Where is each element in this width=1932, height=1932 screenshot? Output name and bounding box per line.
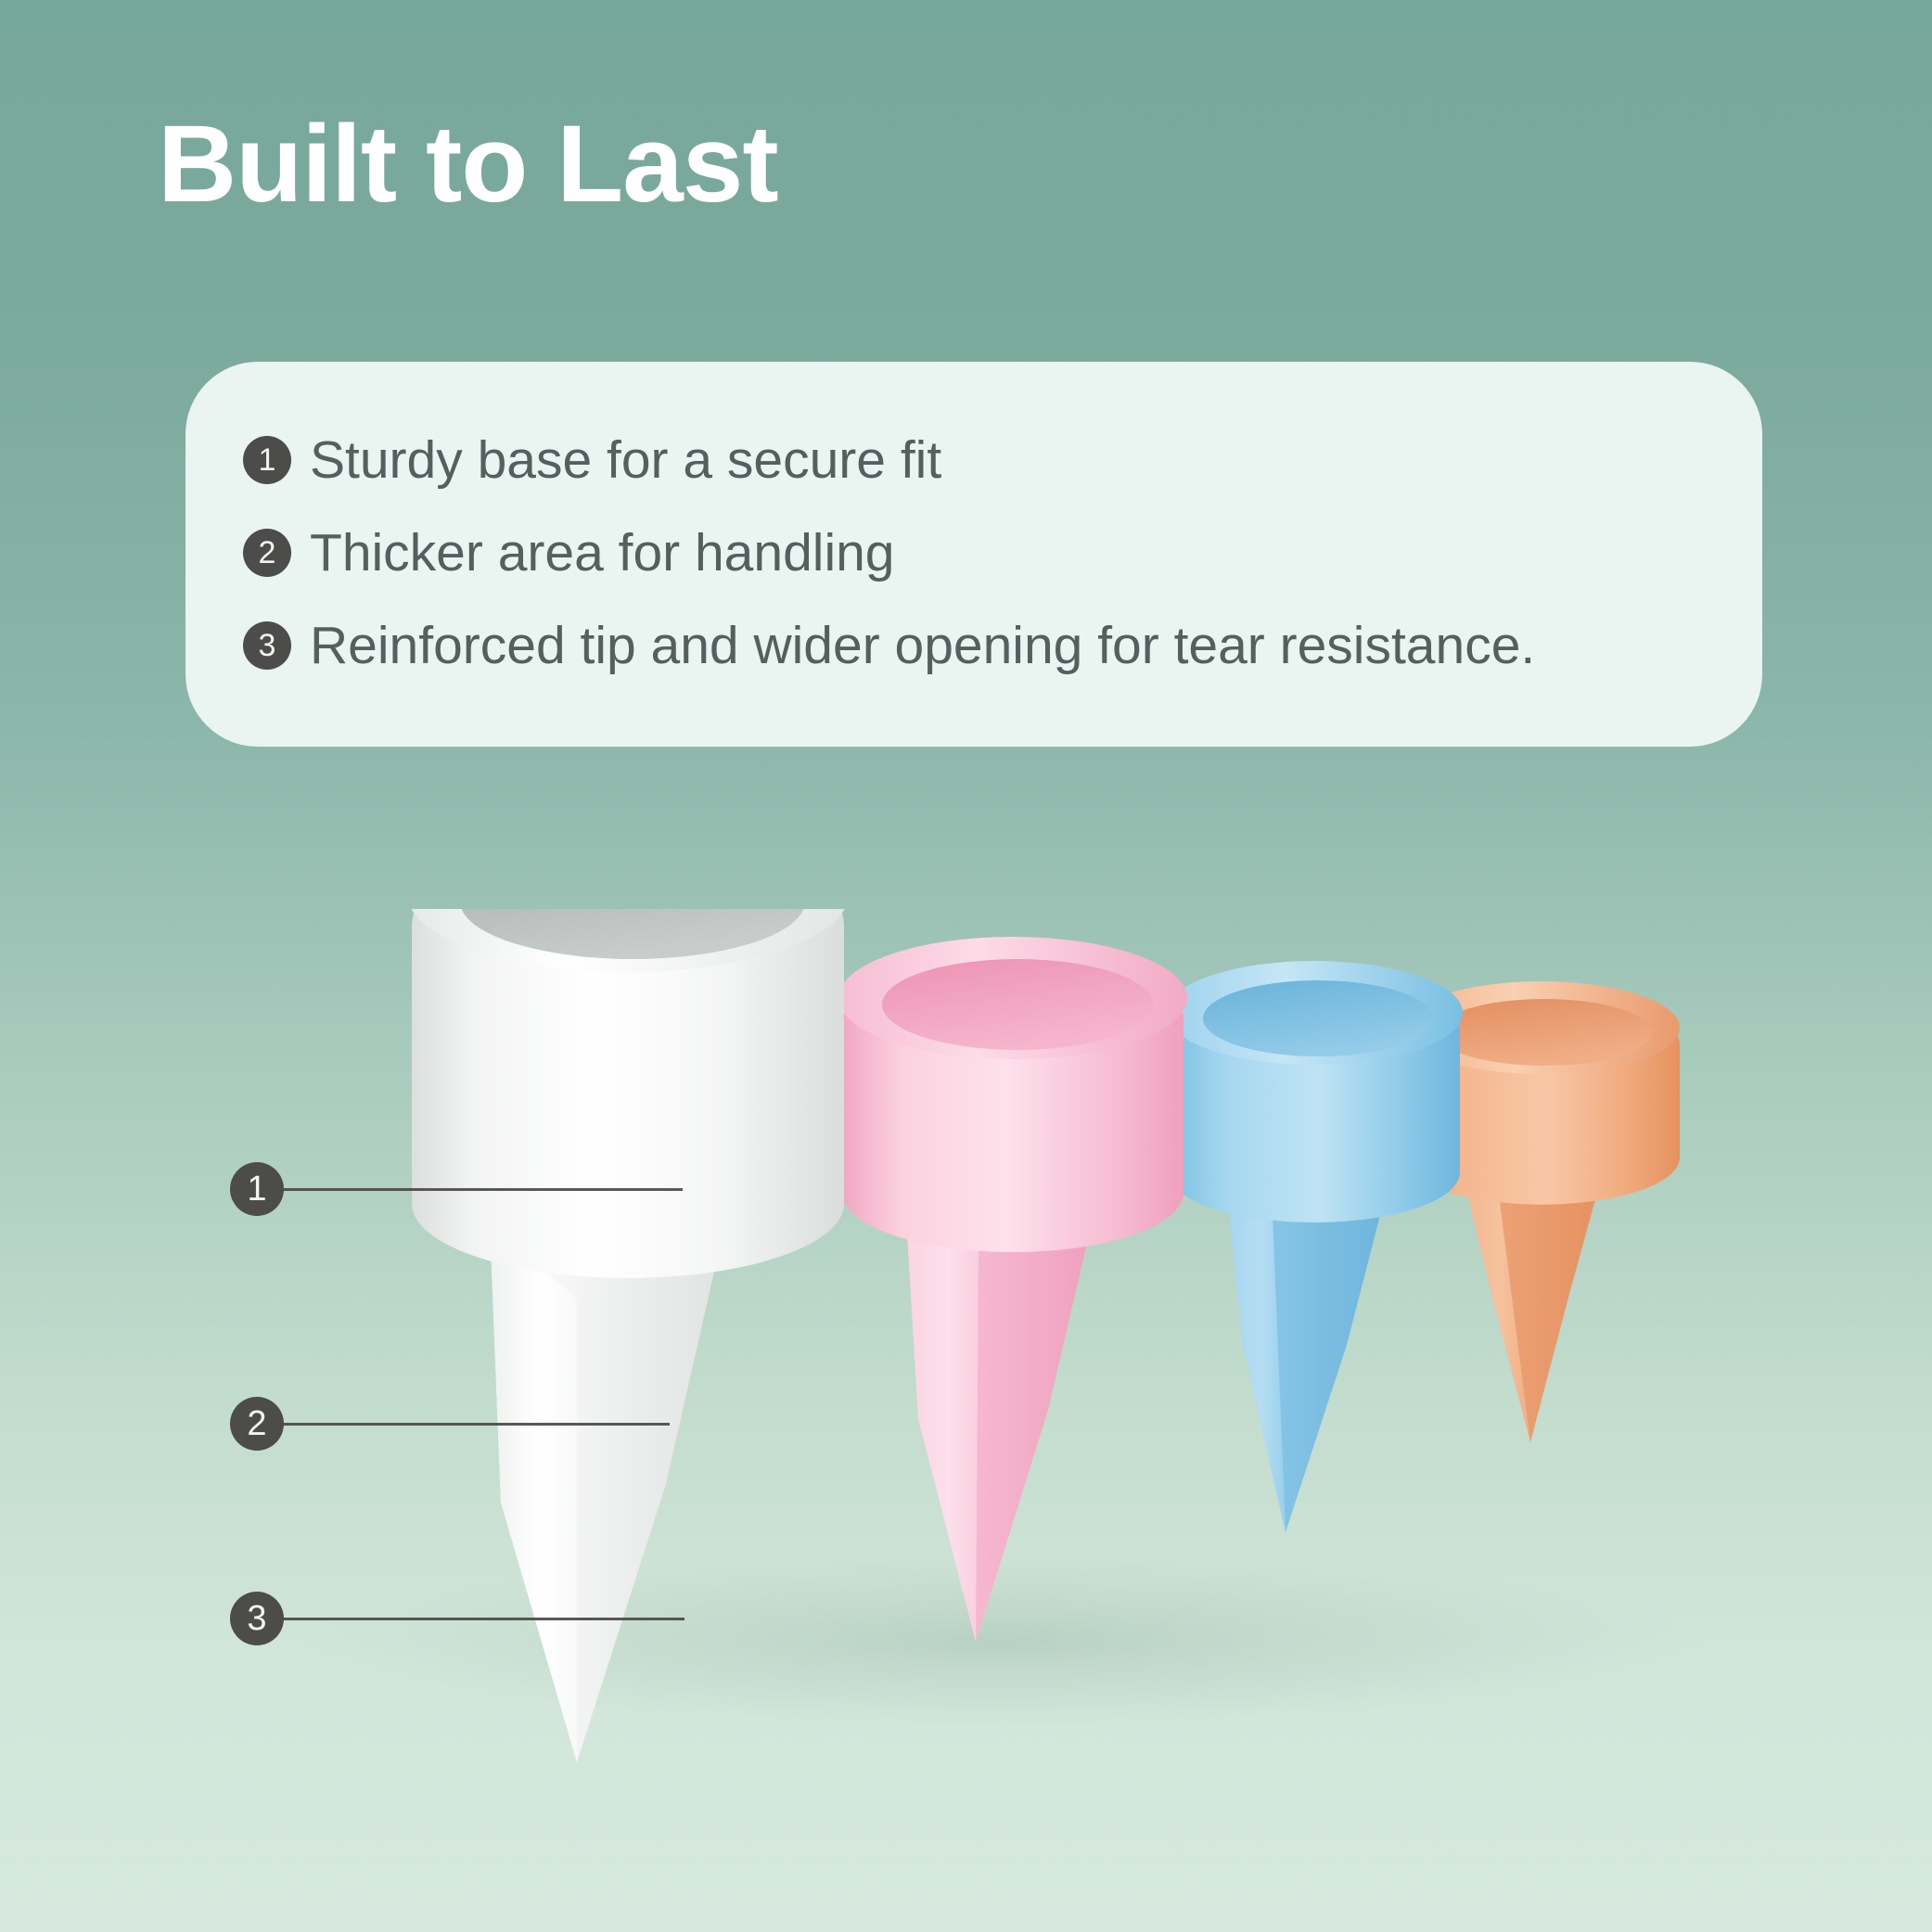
feature-badge-1: 1 <box>243 436 291 484</box>
blue-cone-cup <box>1166 961 1463 1532</box>
callout-1: 1 <box>230 1162 683 1216</box>
callout-badge-3: 3 <box>230 1592 284 1645</box>
feature-text-2: Thicker area for handling <box>310 522 895 583</box>
page-title: Built to Last <box>158 109 778 219</box>
feature-item: 2 Thicker area for handling <box>243 506 1697 599</box>
feature-text-1: Sturdy base for a secure fit <box>310 429 941 491</box>
callout-badge-1: 1 <box>230 1162 284 1216</box>
feature-badge-3: 3 <box>243 621 291 670</box>
callout-3: 3 <box>230 1592 685 1645</box>
feature-item: 3 Reinforced tip and wider opening for t… <box>243 599 1697 692</box>
callout-badge-2: 2 <box>230 1397 284 1451</box>
callout-leader-line-3 <box>280 1618 685 1620</box>
feature-item: 1 Sturdy base for a secure fit <box>243 414 1697 506</box>
callout-2: 2 <box>230 1397 670 1451</box>
pink-cone-cup <box>838 937 1187 1642</box>
callout-leader-line-2 <box>280 1423 670 1426</box>
feature-badge-2: 2 <box>243 529 291 577</box>
feature-list-card: 1 Sturdy base for a secure fit 2 Thicker… <box>186 362 1762 747</box>
feature-text-3: Reinforced tip and wider opening for tea… <box>310 615 1535 676</box>
infographic-canvas: Built to Last 1 Sturdy base for a secure… <box>0 0 1932 1932</box>
callout-leader-line-1 <box>280 1188 683 1191</box>
